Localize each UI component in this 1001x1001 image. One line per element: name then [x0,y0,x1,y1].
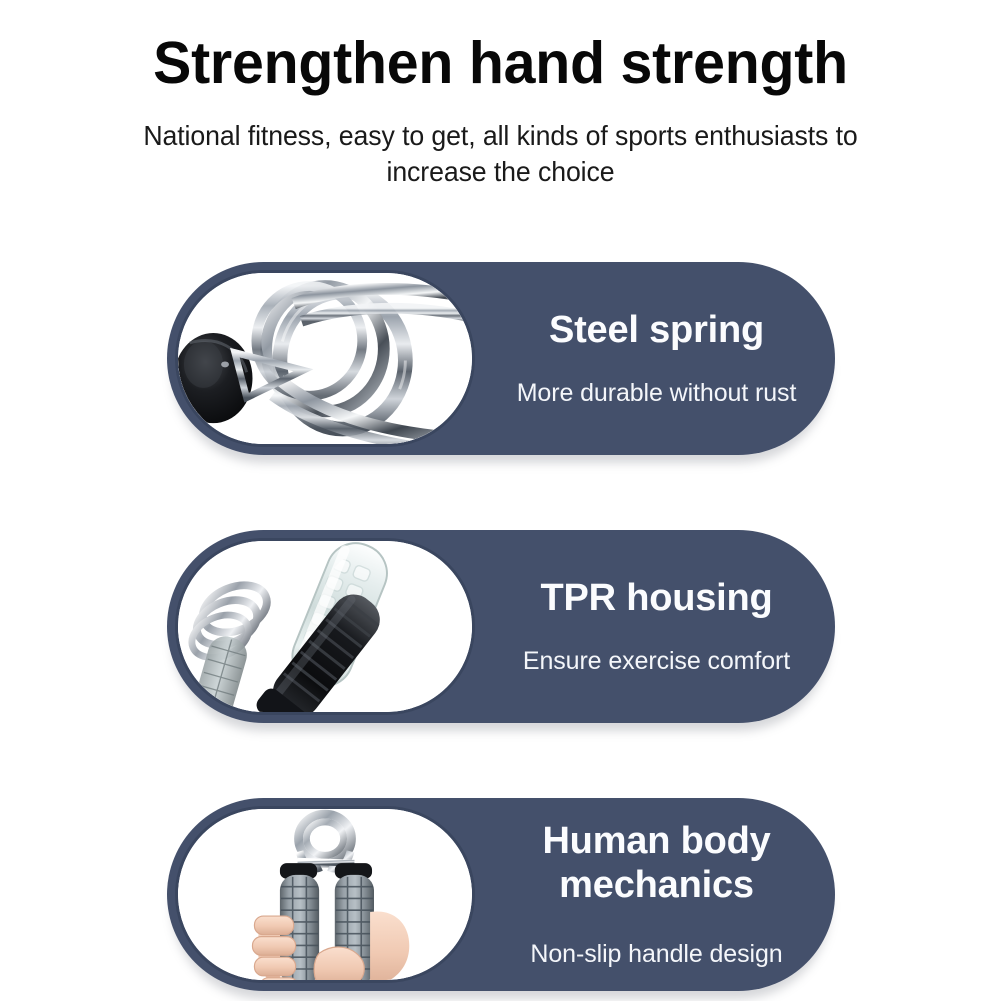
header: Strengthen hand strength National fitnes… [0,0,1001,191]
feature-card-list: Steel spring More durable without rust [0,262,1001,991]
feature-title: Steel spring [549,309,764,352]
feature-card-tpr-housing: TPR housing Ensure exercise comfort [167,530,835,723]
feature-image-human-body-mechanics [175,806,475,983]
infographic-page: Strengthen hand strength National fitnes… [0,0,1001,1001]
steel-spring-icon [178,273,472,444]
feature-subtitle: Ensure exercise comfort [523,646,790,676]
feature-title-line-2: mechanics [559,864,754,906]
feature-image-tpr-housing [175,538,475,715]
feature-title-line-1: Human body [542,820,770,862]
feature-card-human-body-mechanics: Human body mechanics Non-slip handle des… [167,798,835,991]
feature-title: TPR housing [540,577,772,620]
feature-text-human-body-mechanics: Human body mechanics Non-slip handle des… [487,798,827,991]
feature-card-steel-spring: Steel spring More durable without rust [167,262,835,455]
feature-text-tpr-housing: TPR housing Ensure exercise comfort [487,530,827,723]
tpr-housing-icon [178,541,472,712]
feature-subtitle: Non-slip handle design [530,939,782,969]
feature-text-steel-spring: Steel spring More durable without rust [487,262,827,455]
page-subtitle: National fitness, easy to get, all kinds… [15,118,986,191]
feature-subtitle: More durable without rust [517,378,797,408]
feature-image-steel-spring [175,270,475,447]
page-title: Strengthen hand strength [15,32,986,96]
feature-title: Human body mechanics [542,820,770,907]
hand-gripper-icon [178,809,472,980]
